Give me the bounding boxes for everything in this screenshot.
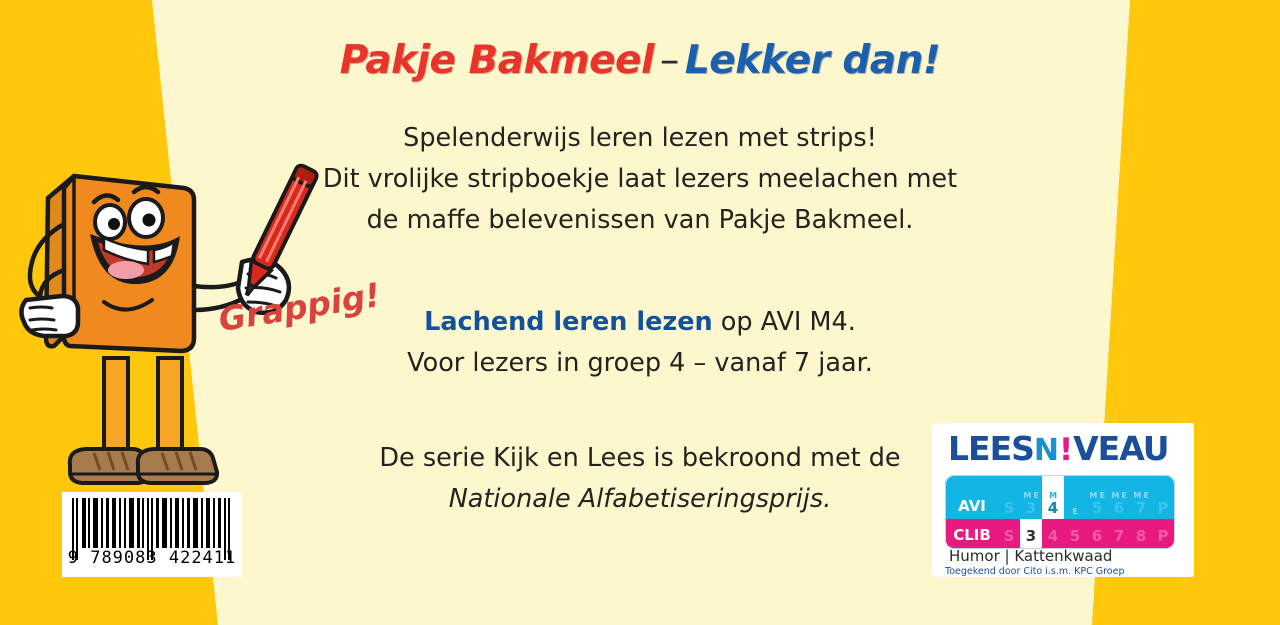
headline-title: Pakje Bakmeel [340, 38, 654, 83]
clib-cell: 4 [1042, 519, 1064, 548]
avi-label: AVI [946, 476, 998, 519]
clib-cell-num: S [1004, 528, 1015, 544]
leesniveau-badge: LEESN!VEAU AVI S M E3 M4 E M E5 M E6 M E… [932, 423, 1194, 577]
avi-cell-num: 5 [1092, 500, 1102, 516]
clib-cell-num: 8 [1136, 528, 1146, 544]
avi-cell: S [998, 476, 1020, 519]
logo-veau: VEAU [1073, 429, 1168, 468]
clib-cell-num: 5 [1070, 528, 1080, 544]
genre-label: Humor | Kattenkwaad [949, 547, 1112, 565]
cover-headline: Pakje Bakmeel–Lekker dan! [0, 38, 1280, 83]
avi-cell: P [1152, 476, 1174, 519]
avi-scale-row: AVI S M E3 M4 E M E5 M E6 M E7 P [946, 476, 1174, 519]
headline-dash: – [654, 38, 685, 83]
avi-cell-num: 4 [1048, 500, 1058, 516]
clib-cell-selected: 3 [1020, 519, 1042, 548]
avi-cell-num: 6 [1114, 500, 1124, 516]
avi-cell: M E5 [1086, 476, 1108, 519]
barcode-bars [72, 498, 232, 548]
clib-cell-num: P [1158, 528, 1169, 544]
clib-cell: S [998, 519, 1020, 548]
clib-cell-num: 6 [1092, 528, 1102, 544]
reading-level-emphasis: Lachend leren lezen [424, 307, 713, 337]
clib-label: CLIB [946, 519, 998, 548]
avi-cell: E [1064, 476, 1086, 519]
leesniveau-logo: LEESN!VEAU [948, 429, 1169, 469]
leesniveau-scale: AVI S M E3 M4 E M E5 M E6 M E7 P CLIB S … [945, 475, 1175, 549]
avi-cell: M E7 [1130, 476, 1152, 519]
clib-cell-num: 3 [1026, 528, 1036, 544]
avi-cell-num: S [1004, 500, 1015, 516]
avi-cell-me: E [1072, 507, 1077, 516]
isbn-barcode: 9 789083 422411 [62, 492, 242, 577]
clib-scale-row: CLIB S 3 4 5 6 7 8 P [946, 519, 1174, 548]
avi-cell-num: P [1158, 500, 1169, 516]
logo-n: N [1034, 433, 1058, 468]
avi-cell-num: 7 [1136, 500, 1146, 516]
clib-cell: 8 [1130, 519, 1152, 548]
logo-lees: LEES [948, 429, 1034, 468]
clib-cell: 5 [1064, 519, 1086, 548]
clib-cell: P [1152, 519, 1174, 548]
avi-cell: M E6 [1108, 476, 1130, 519]
clib-cell-num: 7 [1114, 528, 1124, 544]
avi-cell: M E3 [1020, 476, 1042, 519]
avi-cell-num: 3 [1026, 500, 1036, 516]
clib-cell: 6 [1086, 519, 1108, 548]
isbn-number: 9 789083 422411 [62, 548, 242, 568]
clib-cell-num: 4 [1048, 528, 1058, 544]
logo-exclamation-icon: ! [1058, 432, 1073, 468]
book-back-cover: Pakje Bakmeel–Lekker dan! Spelenderwijs … [0, 0, 1280, 625]
mascot-svg [8, 150, 338, 510]
pakje-bakmeel-mascot-illustration [8, 150, 338, 510]
avi-cell-selected: M4 [1042, 476, 1064, 519]
reading-level-rest: op AVI M4. [713, 307, 856, 337]
headline-subtitle: Lekker dan! [685, 38, 940, 83]
clib-cell: 7 [1108, 519, 1130, 548]
credit-label: Toegekend door Cito i.s.m. KPC Groep [945, 566, 1125, 577]
